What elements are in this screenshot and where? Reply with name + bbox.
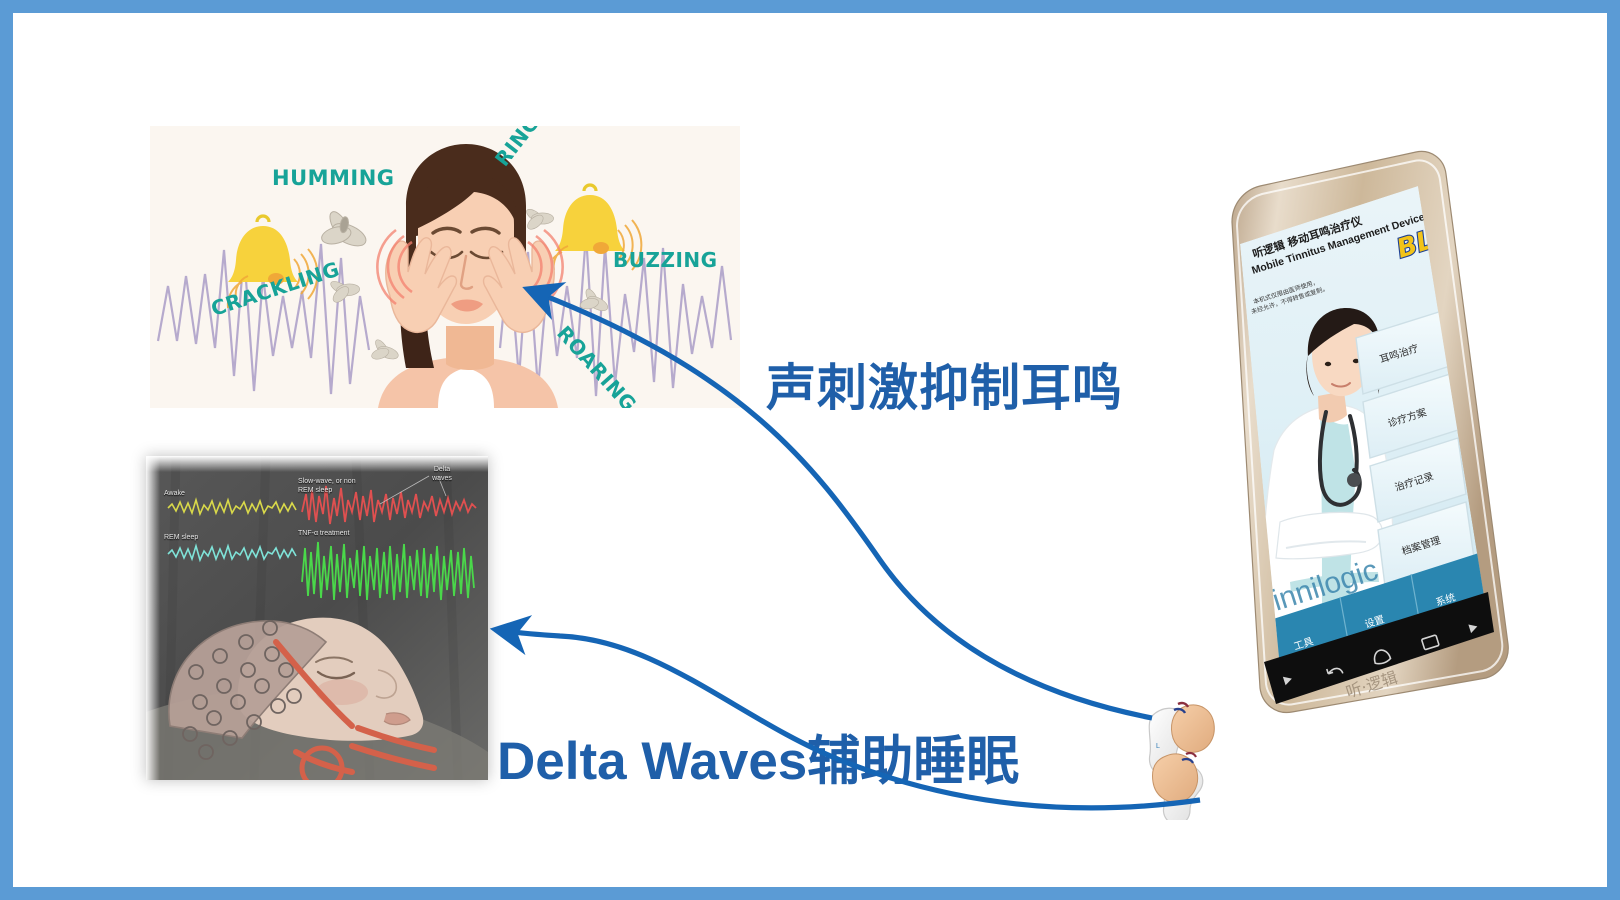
eeg-sleep-image: Awake REM sleep Slow-wave, or non REM sl… [146, 456, 488, 780]
caption-sound-stimulation: 声刺激抑制耳鸣 [766, 348, 1123, 420]
tinnitus-illustration: HUMMING RINGING BUZZING CRACKLING ROARIN… [150, 126, 740, 408]
tinnitus-word-humming: HUMMING [272, 166, 395, 190]
eeg-label-delta-waves: Delta waves [424, 466, 460, 484]
earbud-right: R [1153, 753, 1203, 820]
caption-delta-waves: Delta Waves辅助睡眠 [497, 719, 1019, 795]
tablet-device: 听逻辑 移动耳鸣治疗仪 Mobile Tinnitus Management D… [1104, 150, 1524, 720]
eeg-sleep-graphic [146, 456, 488, 780]
caption-delta-waves-cn: 辅助睡眠 [807, 731, 1019, 792]
eeg-label-rem-sleep: REM sleep [164, 534, 198, 543]
tablet-graphic: 听逻辑 移动耳鸣治疗仪 Mobile Tinnitus Management D… [1104, 150, 1524, 720]
tinnitus-word-buzzing: BUZZING [613, 248, 718, 272]
earbuds-graphic: L R [1130, 690, 1260, 820]
slide-canvas: HUMMING RINGING BUZZING CRACKLING ROARIN… [0, 0, 1620, 900]
eeg-label-slow-wave: Slow-wave, or non REM sleep [298, 478, 370, 496]
eeg-label-awake: Awake [164, 490, 185, 499]
eeg-label-tnf-treatment: TNF-α treatment [298, 530, 350, 539]
earbuds: L R [1130, 690, 1260, 820]
earbud-left-marker: L [1156, 743, 1160, 750]
caption-delta-waves-en: Delta Waves [497, 732, 807, 791]
